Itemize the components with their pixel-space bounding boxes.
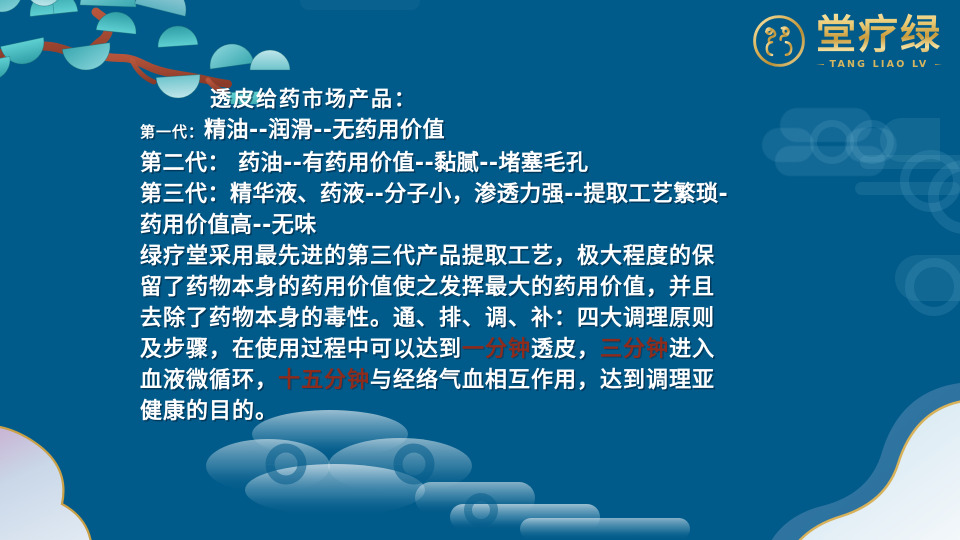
slide-canvas: 堂疗绿 TANG LIAO LV 透皮给药市场产品： 第一代：精油--润滑--无…	[0, 0, 960, 540]
green-seal-icon	[750, 12, 808, 70]
generation-body: 药用价值高--无味	[140, 213, 317, 238]
logo-pinyin-row: TANG LIAO LV	[816, 59, 942, 70]
logo-hanzi: 堂疗绿	[816, 13, 942, 57]
generation-label: 第一代：	[140, 123, 204, 141]
generation-body: 药油--有药用价值--黏腻--堵塞毛孔	[230, 151, 588, 176]
paragraph-text: 留了药物本身的药用价值使之发挥最大的药用价值，并且	[140, 275, 715, 300]
generation-body: 精油--润滑--无药用价值	[204, 118, 445, 143]
logo-wordmark: 堂疗绿 TANG LIAO LV	[816, 13, 942, 70]
auspicious-cloud-icon	[0, 396, 242, 540]
generation-line: 第一代：精油--润滑--无药用价值	[140, 115, 940, 148]
paragraph-text: 透皮，	[531, 337, 600, 362]
generation-line: 药用价值高--无味	[140, 210, 940, 241]
cloud-swirl-icon	[300, 0, 420, 10]
generation-list: 第一代：精油--润滑--无药用价值第二代： 药油--有药用价值--黏腻--堵塞毛…	[140, 115, 940, 241]
generation-line: 第三代：精华液、药液--分子小，渗透力强--提取工艺繁琐-	[140, 179, 940, 210]
generation-label: 第二代：	[140, 151, 230, 176]
logo-pinyin: TANG LIAO LV	[830, 59, 929, 70]
paragraph-text: 去除了药物本身的毒性。通、排、调、补：四大调理原则	[140, 306, 715, 331]
generation-line: 第二代： 药油--有药用价值--黏腻--堵塞毛孔	[140, 148, 940, 179]
paragraph-text: 与经络气血相互作用，达到调理亚	[370, 368, 715, 393]
logo-rule-right	[935, 64, 943, 65]
highlighted-text: 一分钟	[462, 337, 531, 362]
generation-body: 精华液、药液--分子小，渗透力强--提取工艺繁琐-	[230, 182, 728, 207]
paragraph-text: 进入	[669, 337, 715, 362]
page-title: 透皮给药市场产品：	[140, 84, 940, 115]
paragraph-line: 留了药物本身的药用价值使之发挥最大的药用价值，并且	[140, 272, 940, 303]
paragraph-text: 及步骤，在使用过程中可以达到	[140, 337, 462, 362]
paragraph-text: 血液微循环，	[140, 368, 278, 393]
paragraph-line: 绿疗堂采用最先进的第三代产品提取工艺，极大程度的保	[140, 241, 940, 272]
generation-label: 第三代：	[140, 182, 230, 207]
auspicious-cloud-icon	[670, 360, 960, 540]
highlighted-text: 十五分钟	[278, 368, 370, 393]
paragraph-text: 绿疗堂采用最先进的第三代产品提取工艺，极大程度的保	[140, 244, 715, 269]
logo-rule-left	[816, 64, 824, 65]
highlighted-text: 三分钟	[600, 337, 669, 362]
brand-logo: 堂疗绿 TANG LIAO LV	[750, 6, 942, 76]
paragraph-line: 去除了药物本身的毒性。通、排、调、补：四大调理原则	[140, 303, 940, 334]
